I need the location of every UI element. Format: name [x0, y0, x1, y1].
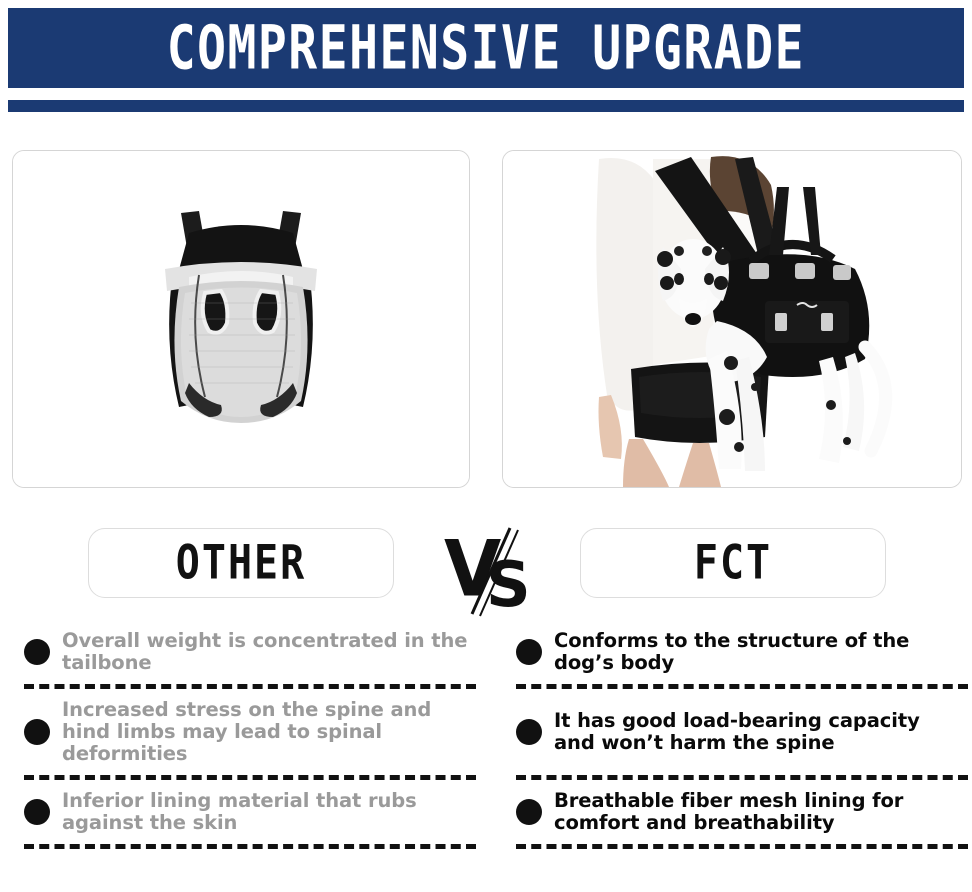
- list-item-label: Conforms to the structure of the dog’s b…: [554, 630, 964, 674]
- list-item-label: Overall weight is concentrated in the ta…: [62, 630, 472, 674]
- list-divider: [24, 844, 476, 849]
- bullet-icon: [24, 719, 50, 745]
- list-item: Conforms to the structure of the dog’s b…: [516, 620, 968, 689]
- list-divider: [516, 844, 968, 849]
- page-title: COMPREHENSIVE UPGRADE: [167, 18, 805, 78]
- versus-row: OTHER V S FCT: [0, 520, 972, 620]
- versus-icon: V S: [438, 520, 548, 620]
- other-product-panel: [12, 150, 470, 488]
- bullet-icon: [516, 799, 542, 825]
- list-item: Breathable fiber mesh lining for comfort…: [516, 780, 968, 849]
- list-item: Increased stress on the spine and hind l…: [24, 689, 476, 780]
- list-item-label: Increased stress on the spine and hind l…: [62, 699, 472, 766]
- bullet-icon: [516, 639, 542, 665]
- bullet-icon: [24, 799, 50, 825]
- list-item-label: It has good load-bearing capacity and wo…: [554, 710, 964, 754]
- comparison-lists: Overall weight is concentrated in the ta…: [0, 620, 972, 892]
- fct-label: FCT: [694, 536, 772, 590]
- fct-product-image: [503, 151, 961, 487]
- other-product-image: [13, 151, 469, 487]
- list-item: It has good load-bearing capacity and wo…: [516, 689, 968, 780]
- list-item: Inferior lining material that rubs again…: [24, 780, 476, 849]
- other-label: OTHER: [176, 536, 306, 590]
- header-accent-bar: [8, 100, 964, 112]
- list-item-label: Breathable fiber mesh lining for comfort…: [554, 790, 964, 834]
- fct-feature-list: Conforms to the structure of the dog’s b…: [516, 620, 968, 849]
- product-image-panels: [0, 150, 972, 490]
- list-item-label: Inferior lining material that rubs again…: [62, 790, 472, 834]
- fct-product-panel: [502, 150, 962, 488]
- bullet-icon: [516, 719, 542, 745]
- fct-label-box: FCT: [580, 528, 886, 598]
- svg-text:S: S: [486, 548, 531, 620]
- other-label-box: OTHER: [88, 528, 394, 598]
- list-item: Overall weight is concentrated in the ta…: [24, 620, 476, 689]
- header-banner: COMPREHENSIVE UPGRADE: [8, 8, 964, 88]
- bullet-icon: [24, 639, 50, 665]
- other-feature-list: Overall weight is concentrated in the ta…: [24, 620, 476, 849]
